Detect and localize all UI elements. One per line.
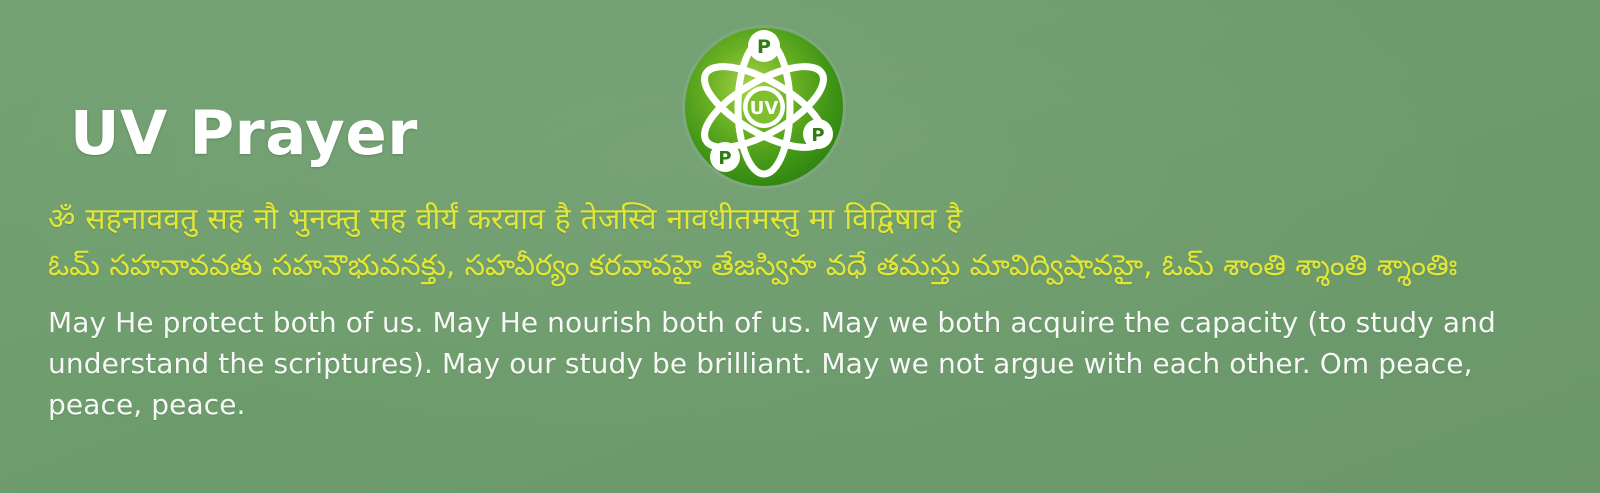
- electron-node-top: P: [748, 30, 780, 62]
- nucleus: UV: [743, 86, 785, 128]
- telugu-line: ఓమ్ సహనావవతు సహనౌభువనక్తు, సహవీర్యం కరవా…: [48, 242, 1568, 289]
- uv-prayer-banner: UV Prayer: [0, 0, 1600, 493]
- english-translation: May He protect both of us. May He nouris…: [48, 302, 1538, 425]
- uv-atom-logo: UV P P P: [681, 24, 847, 190]
- sanskrit-devanagari-line: ॐ सहनाववतु सह नौ भुनक्तु सह वीर्यं करवाव…: [48, 198, 1568, 242]
- svg-text:P: P: [757, 36, 771, 58]
- page-title: UV Prayer: [70, 103, 418, 164]
- electron-node-right: P: [803, 119, 833, 149]
- svg-text:P: P: [811, 125, 824, 146]
- nucleus-label: UV: [750, 98, 779, 119]
- svg-text:P: P: [718, 148, 731, 169]
- electron-node-bottom-left: P: [710, 142, 740, 172]
- scripture-block: ॐ सहनाववतु सह नौ भुनक्तु सह वीर्यं करवाव…: [48, 198, 1568, 289]
